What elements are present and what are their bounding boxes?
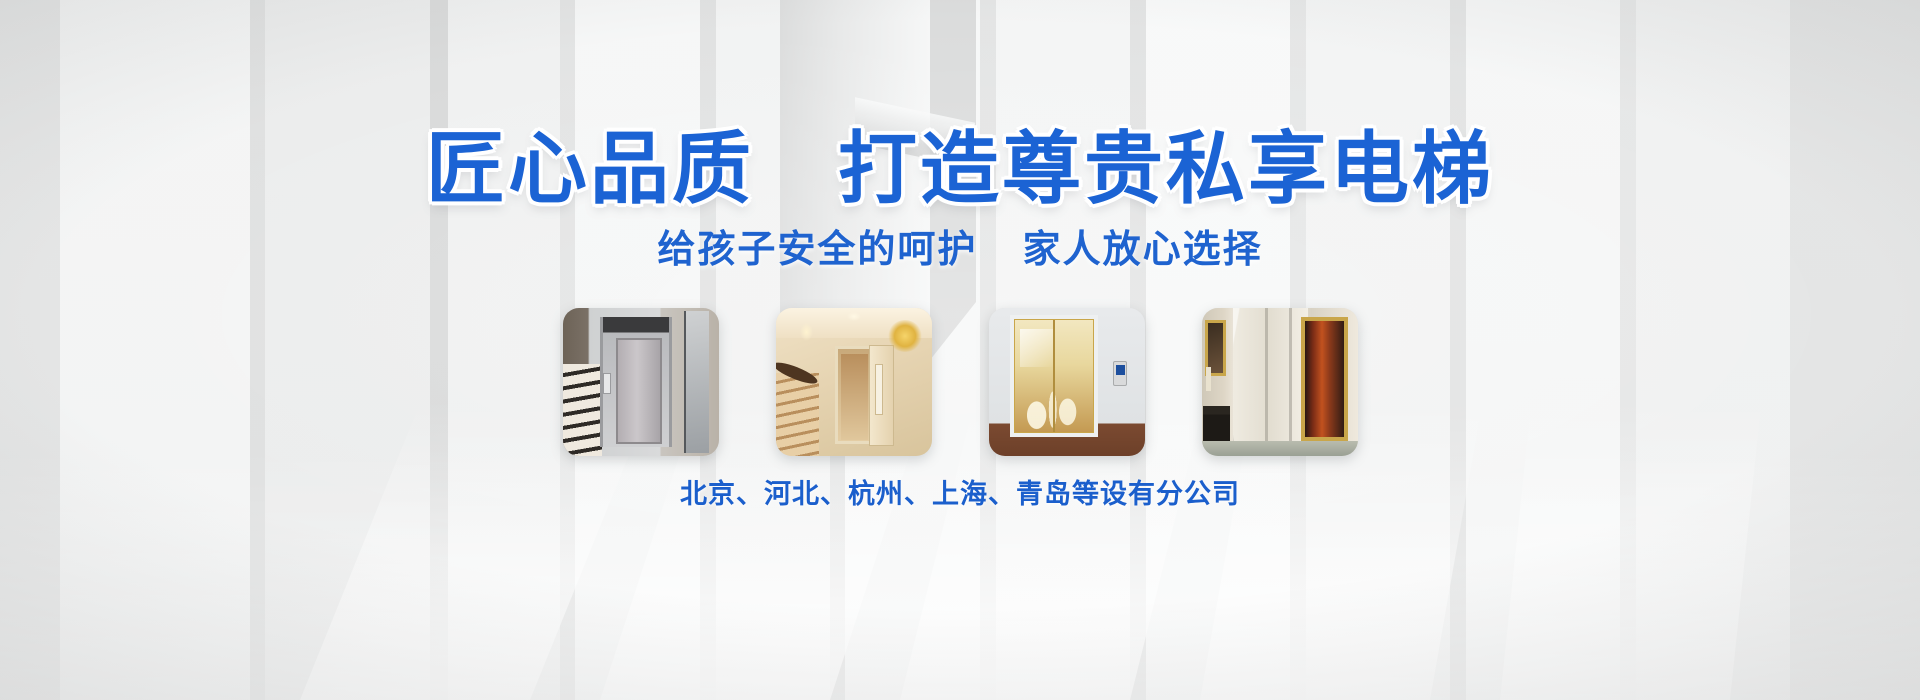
- thumbnail-gold-glass-elevator-doors[interactable]: [989, 308, 1145, 456]
- branch-offices-note: 北京、河北、杭州、上海、青岛等设有分公司: [0, 472, 1920, 511]
- headline: 匠心品质 打造尊贵私享电梯: [0, 104, 1920, 219]
- thumbnail-silver-home-elevator-staircase[interactable]: [563, 308, 719, 456]
- subtitle: 给孩子安全的呵护 家人放心选择: [0, 218, 1920, 273]
- photo-gold-glass-doors: [989, 308, 1145, 456]
- thumbnail-marble-lobby-elevator[interactable]: [1202, 308, 1358, 456]
- photo-silver-elevator: [563, 308, 719, 456]
- thumbnail-gallery: [0, 308, 1920, 456]
- subtitle-part-2: 家人放心选择: [1023, 229, 1263, 271]
- photo-beige-hallway: [776, 308, 932, 456]
- promo-banner: 匠心品质 打造尊贵私享电梯 给孩子安全的呵护 家人放心选择: [0, 0, 1920, 700]
- subtitle-part-1: 给孩子安全的呵护: [657, 229, 977, 271]
- headline-part-2: 打造尊贵私享电梯: [838, 124, 1494, 213]
- thumbnail-beige-hallway-elevator[interactable]: [776, 308, 932, 456]
- headline-part-1: 匠心品质: [426, 124, 754, 213]
- photo-marble-lobby: [1202, 308, 1358, 456]
- banner-content: 匠心品质 打造尊贵私享电梯 给孩子安全的呵护 家人放心选择: [0, 0, 1920, 700]
